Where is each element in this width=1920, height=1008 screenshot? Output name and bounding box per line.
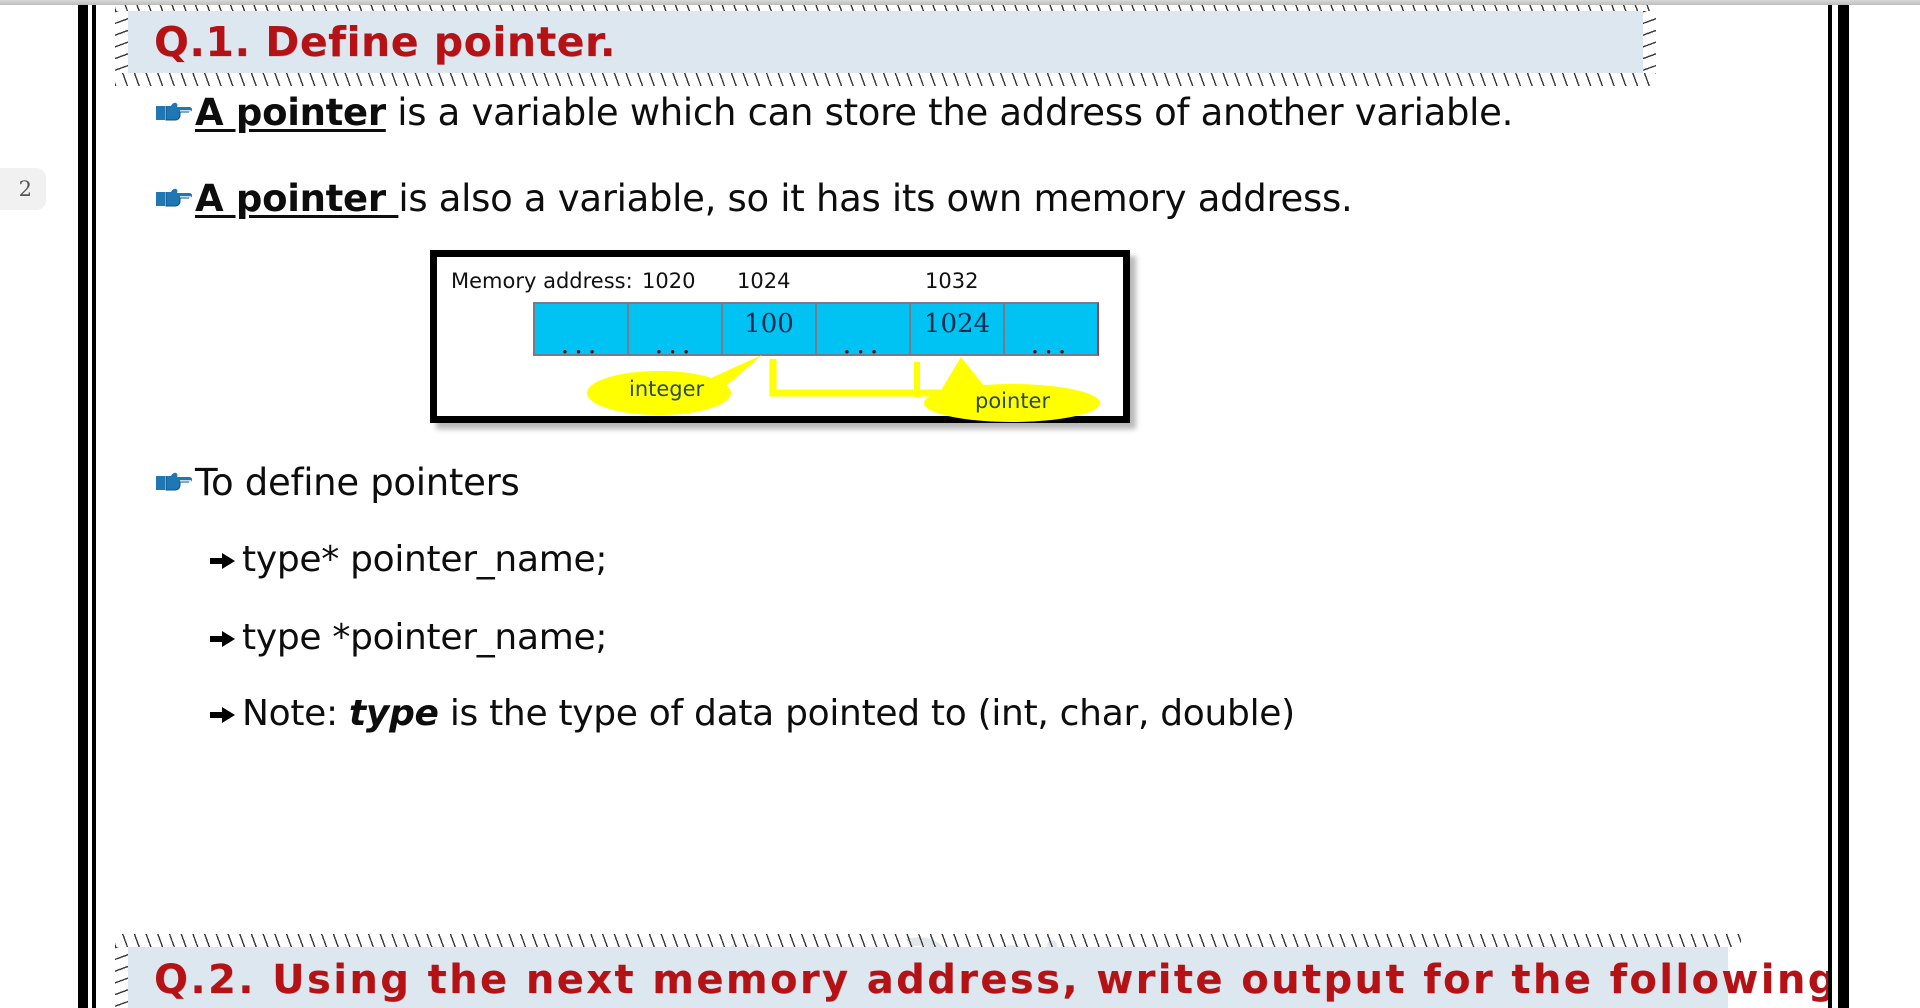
left-rail-inner <box>92 5 96 1008</box>
bullet-item-2: A pointer is also a variable, so it has … <box>155 177 1352 220</box>
memory-cell: ... <box>1003 302 1099 356</box>
bullet-1-text: A pointer is a variable which can store … <box>195 91 1513 134</box>
callout-connector-line <box>773 359 977 393</box>
memory-cell-row: ... ... 100 ... 1024 <box>533 302 1099 356</box>
memory-cell-dots: ... <box>817 337 909 353</box>
hatch-border-top <box>115 934 1741 947</box>
bullet-item-3: To define pointers <box>155 461 519 504</box>
bullet-3-text: To define pointers <box>195 461 519 504</box>
pointer-callout-label: pointer <box>975 389 1050 413</box>
bullet-1-rest: is a variable which can store the addres… <box>386 91 1513 134</box>
bullet-2-emphasis: A pointer <box>195 177 398 220</box>
hatch-border-bottom <box>115 73 1656 86</box>
right-arrow-icon <box>208 628 242 650</box>
hatch-border-right <box>1643 11 1656 73</box>
hatch-border-top <box>115 5 1656 11</box>
memory-cell: 100 <box>721 302 817 356</box>
sub-bullet-item-1: type* pointer_name; <box>208 539 607 580</box>
right-arrow-icon <box>208 550 242 572</box>
bullet-item-1: A pointer is a variable which can store … <box>155 91 1513 134</box>
memory-address-1032: 1032 <box>925 269 978 293</box>
sub-bullet-3-text: Note: type is the type of data pointed t… <box>242 693 1295 734</box>
hatch-border-left <box>115 947 128 1008</box>
right-arrow-icon <box>208 704 242 726</box>
memory-cell-value: 1024 <box>911 309 1003 339</box>
memory-address-label: Memory address: <box>451 269 633 293</box>
page-number-label: 2 <box>19 177 32 201</box>
slide-page: 2 Q.1. Define pointer. A pointer is a va… <box>0 0 1920 1008</box>
right-rail-inner <box>1828 5 1832 1008</box>
integer-callout-label: integer <box>629 377 704 401</box>
hatch-border-left <box>115 11 128 73</box>
question-1-text: Q.1. Define pointer. <box>128 18 616 66</box>
bullet-2-rest: is also a variable, so it has its own me… <box>398 177 1352 220</box>
question-2-banner: Q.2. Using the next memory address, writ… <box>128 947 1728 1008</box>
memory-address-1020: 1020 <box>642 269 695 293</box>
sub-bullet-item-2: type *pointer_name; <box>208 617 607 658</box>
pointing-hand-icon <box>155 97 195 127</box>
sub-bullet-2-text: type *pointer_name; <box>242 617 607 658</box>
memory-cell: ... <box>815 302 911 356</box>
sub-bullet-3-post: is the type of data pointed to (int, cha… <box>439 693 1295 734</box>
page-number-badge: 2 <box>0 168 46 210</box>
sub-bullet-1-text: type* pointer_name; <box>242 539 607 580</box>
sub-bullet-item-3: Note: type is the type of data pointed t… <box>208 693 1295 734</box>
memory-address-1024: 1024 <box>737 269 790 293</box>
memory-cell: ... <box>627 302 723 356</box>
memory-cell-value: 100 <box>723 309 815 339</box>
memory-cell-dots: ... <box>1005 337 1097 353</box>
sub-bullet-3-pre: Note: <box>242 693 349 734</box>
bullet-1-emphasis: A pointer <box>195 91 386 134</box>
sub-bullet-3-emphasis: type <box>349 693 439 734</box>
memory-cell: 1024 <box>909 302 1005 356</box>
question-1-banner: Q.1. Define pointer. <box>128 11 1643 73</box>
bullet-2-text: A pointer is also a variable, so it has … <box>195 177 1352 220</box>
pointing-hand-icon <box>155 467 195 497</box>
left-rail-outer <box>78 5 88 1008</box>
memory-diagram: Memory address: 1020 1024 1032 ... ... 1… <box>430 250 1130 423</box>
memory-cell: ... <box>533 302 629 356</box>
pointer-callout-stem <box>914 362 920 397</box>
memory-cell-dots: ... <box>629 337 721 353</box>
question-2-text: Q.2. Using the next memory address, writ… <box>128 957 1828 1003</box>
memory-cell-dots: ... <box>535 337 627 353</box>
slide-content: Q.1. Define pointer. A pointer is a vari… <box>100 5 1828 1008</box>
pointing-hand-icon <box>155 183 195 213</box>
right-rail-outer <box>1838 5 1849 1008</box>
